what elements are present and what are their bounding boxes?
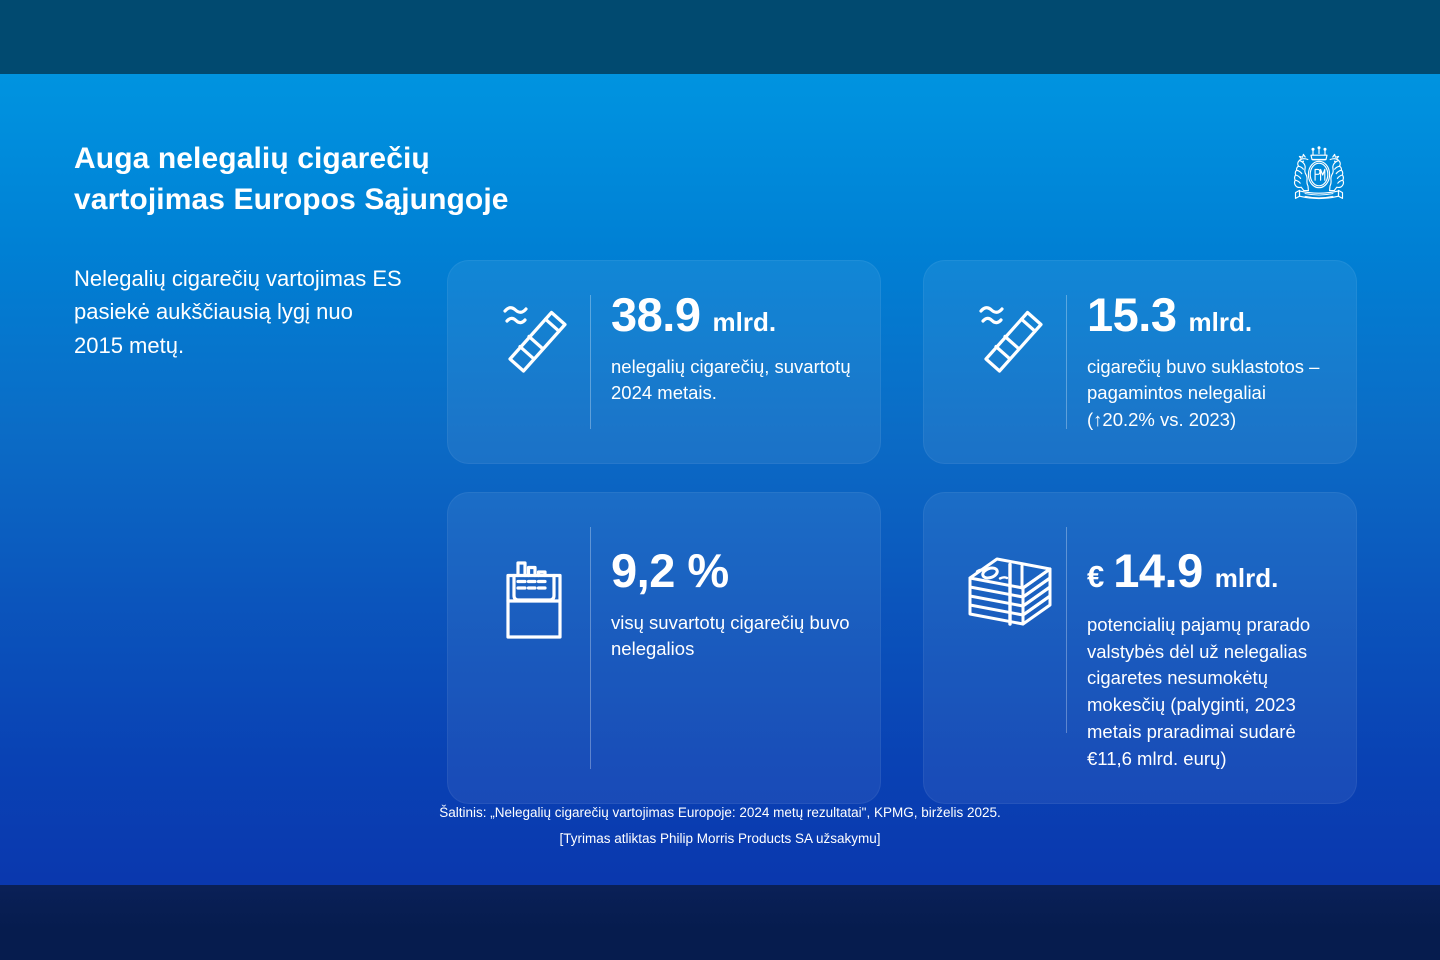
- stat-description: visų suvartotų cigarečių buvo nelegalios: [611, 610, 854, 663]
- card-divider: [590, 295, 591, 429]
- source-footnote: Šaltinis: „Nelegalių cigarečių vartojima…: [0, 800, 1440, 853]
- source-line-2: [Tyrimas atliktas Philip Morris Products…: [0, 826, 1440, 852]
- stat-description: cigarečių buvo suklastotos – pagamintos …: [1087, 354, 1330, 433]
- page-title-line-2: vartojimas Europos Sąjungoje: [74, 179, 714, 220]
- stat-card-grid: 38.9 mlrd. nelegalių cigarečių, suvartot…: [447, 260, 1357, 804]
- bottom-bar: [0, 885, 1440, 960]
- page-title: Auga nelegalių cigarečių vartojimas Euro…: [74, 138, 714, 221]
- infographic-canvas: Auga nelegalių cigarečių vartojimas Euro…: [0, 0, 1440, 960]
- top-bar: [0, 0, 1440, 74]
- cigarette-smoke-icon: [478, 291, 590, 379]
- stat-unit: mlrd.: [1215, 565, 1279, 591]
- card-body: 15.3 mlrd. cigarečių buvo suklastotos – …: [1087, 291, 1330, 433]
- source-line-1: Šaltinis: „Nelegalių cigarečių vartojima…: [439, 805, 1001, 820]
- page-title-line-1: Auga nelegalių cigarečių: [74, 138, 714, 179]
- stat-card-illicit-consumption: 38.9 mlrd. nelegalių cigarečių, suvartot…: [447, 260, 881, 464]
- card-body: € 14.9 mlrd. potencialių pajamų prarado …: [1087, 523, 1330, 773]
- philip-morris-international-crest-logo: [1283, 142, 1355, 208]
- card-body: 9,2 % visų suvartotų cigarečių buvo nele…: [611, 523, 854, 663]
- stat-card-row-1: 38.9 mlrd. nelegalių cigarečių, suvartot…: [447, 260, 1357, 464]
- stat-value: 15.3: [1087, 291, 1176, 338]
- stat-description: potencialių pajamų prarado valstybės dėl…: [1087, 612, 1330, 773]
- stat-unit: mlrd.: [712, 309, 776, 335]
- stat-unit: mlrd.: [1188, 309, 1252, 335]
- stat-description: nelegalių cigarečių, suvartotų 2024 meta…: [611, 354, 854, 407]
- stat-card-lost-revenue: € 14.9 mlrd. potencialių pajamų prarado …: [923, 492, 1357, 804]
- card-body: 38.9 mlrd. nelegalių cigarečių, suvartot…: [611, 291, 854, 407]
- stat-value-group: 9,2 %: [611, 547, 854, 594]
- stat-card-counterfeit: 15.3 mlrd. cigarečių buvo suklastotos – …: [923, 260, 1357, 464]
- stat-value: 14.9: [1113, 547, 1202, 594]
- stat-value: 9,2 %: [611, 547, 729, 594]
- stat-value-group: 38.9 mlrd.: [611, 291, 854, 338]
- euro-symbol: €: [1087, 561, 1104, 592]
- stat-value-group: 15.3 mlrd.: [1087, 291, 1330, 338]
- stat-card-row-2: 9,2 % visų suvartotų cigarečių buvo nele…: [447, 492, 1357, 804]
- card-divider: [1066, 527, 1067, 733]
- cigarette-smoke-icon: [954, 291, 1066, 379]
- stat-value: 38.9: [611, 291, 700, 338]
- card-divider: [1066, 295, 1067, 429]
- lead-paragraph: Nelegalių cigarečių vartojimas ES pasiek…: [74, 262, 404, 362]
- stat-card-illicit-share: 9,2 % visų suvartotų cigarečių buvo nele…: [447, 492, 881, 804]
- card-divider: [590, 527, 591, 769]
- stat-value-group: € 14.9 mlrd.: [1087, 547, 1330, 594]
- money-stack-icon: [954, 523, 1066, 629]
- cigarette-pack-icon: [478, 523, 590, 643]
